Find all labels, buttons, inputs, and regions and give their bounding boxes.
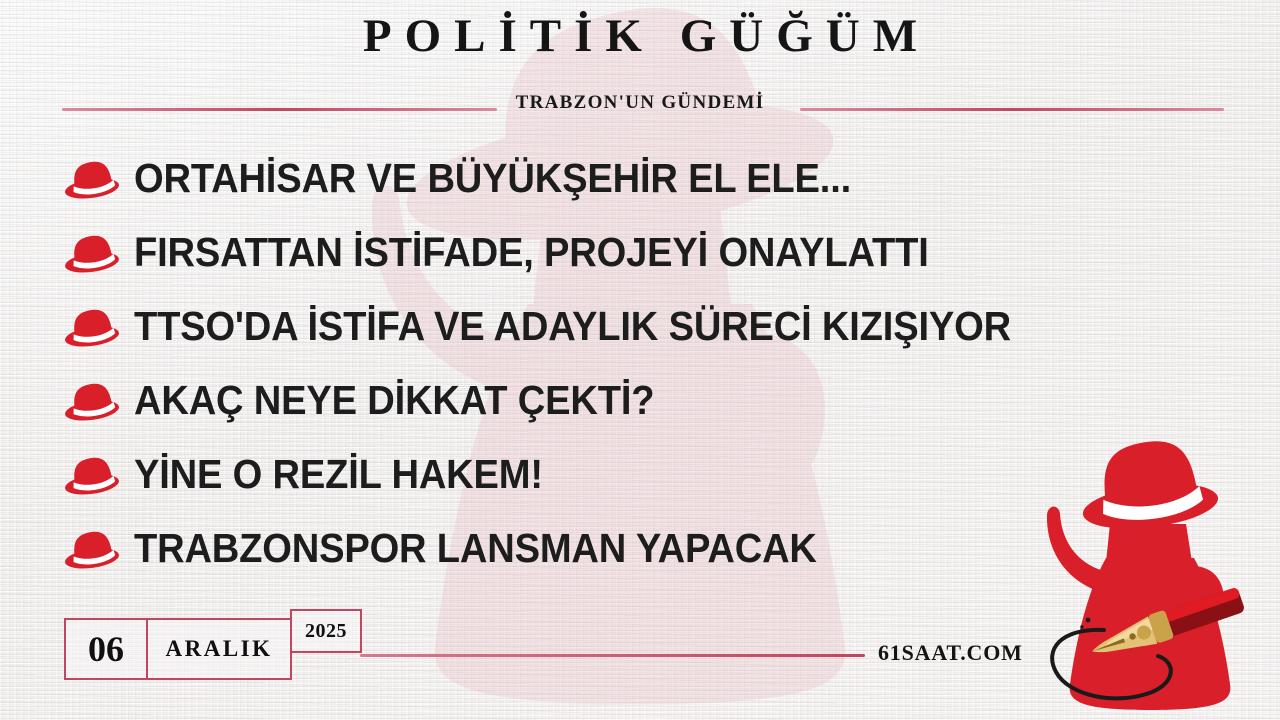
- date-day-value: 06: [88, 628, 124, 670]
- masthead: POLİTİK GÜĞÜM: [0, 10, 1280, 63]
- footer: 06 ARALIK 2025 61SAAT.COM: [0, 600, 1280, 720]
- headline-item[interactable]: YİNE O REZİL HAKEM!: [62, 437, 1242, 511]
- politik-gugum-news-card: POLİTİK GÜĞÜM TRABZON'UN GÜNDEMİ ORTAHİS…: [0, 0, 1280, 720]
- headline-item[interactable]: AKAÇ NEYE DİKKAT ÇEKTİ?: [62, 363, 1242, 437]
- date-month-value: ARALIK: [165, 636, 272, 662]
- headline-text: AKAÇ NEYE DİKKAT ÇEKTİ?: [134, 380, 654, 421]
- headline-text: TTSO'DA İSTİFA VE ADAYLIK SÜRECİ KIZIŞIY…: [134, 306, 1011, 347]
- date-month-box: ARALIK: [146, 618, 292, 680]
- red-top-hat-icon: [62, 231, 122, 277]
- headline-text: TRABZONSPOR LANSMAN YAPACAK: [134, 528, 817, 569]
- headline-text: YİNE O REZİL HAKEM!: [134, 454, 543, 495]
- date-year-box: 2025: [290, 609, 362, 653]
- date-year-value: 2025: [305, 620, 347, 643]
- footer-divider-line: [360, 654, 865, 657]
- website-url[interactable]: 61SAAT.COM: [878, 640, 1023, 666]
- headline-item[interactable]: TTSO'DA İSTİFA VE ADAYLIK SÜRECİ KIZIŞIY…: [62, 289, 1242, 363]
- red-top-hat-icon: [62, 379, 122, 425]
- subtitle-row: TRABZON'UN GÜNDEMİ: [0, 92, 1280, 126]
- red-top-hat-icon: [62, 527, 122, 573]
- date-day-box: 06: [64, 618, 148, 680]
- headline-item[interactable]: TRABZONSPOR LANSMAN YAPACAK: [62, 511, 1242, 585]
- masthead-subtitle: TRABZON'UN GÜNDEMİ: [0, 92, 1280, 114]
- red-top-hat-icon: [62, 157, 122, 203]
- page-title: POLİTİK GÜĞÜM: [0, 10, 1280, 63]
- headline-item[interactable]: ORTAHİSAR VE BÜYÜKŞEHİR EL ELE...: [62, 141, 1242, 215]
- headline-text: ORTAHİSAR VE BÜYÜKŞEHİR EL ELE...: [134, 158, 851, 199]
- headline-item[interactable]: FIRSATTAN İSTİFADE, PROJEYİ ONAYLATTI: [62, 215, 1242, 289]
- red-top-hat-icon: [62, 305, 122, 351]
- red-top-hat-icon: [62, 453, 122, 499]
- headline-text: FIRSATTAN İSTİFADE, PROJEYİ ONAYLATTI: [134, 232, 929, 273]
- headline-list: ORTAHİSAR VE BÜYÜKŞEHİR EL ELE... FIRSAT…: [62, 141, 1242, 585]
